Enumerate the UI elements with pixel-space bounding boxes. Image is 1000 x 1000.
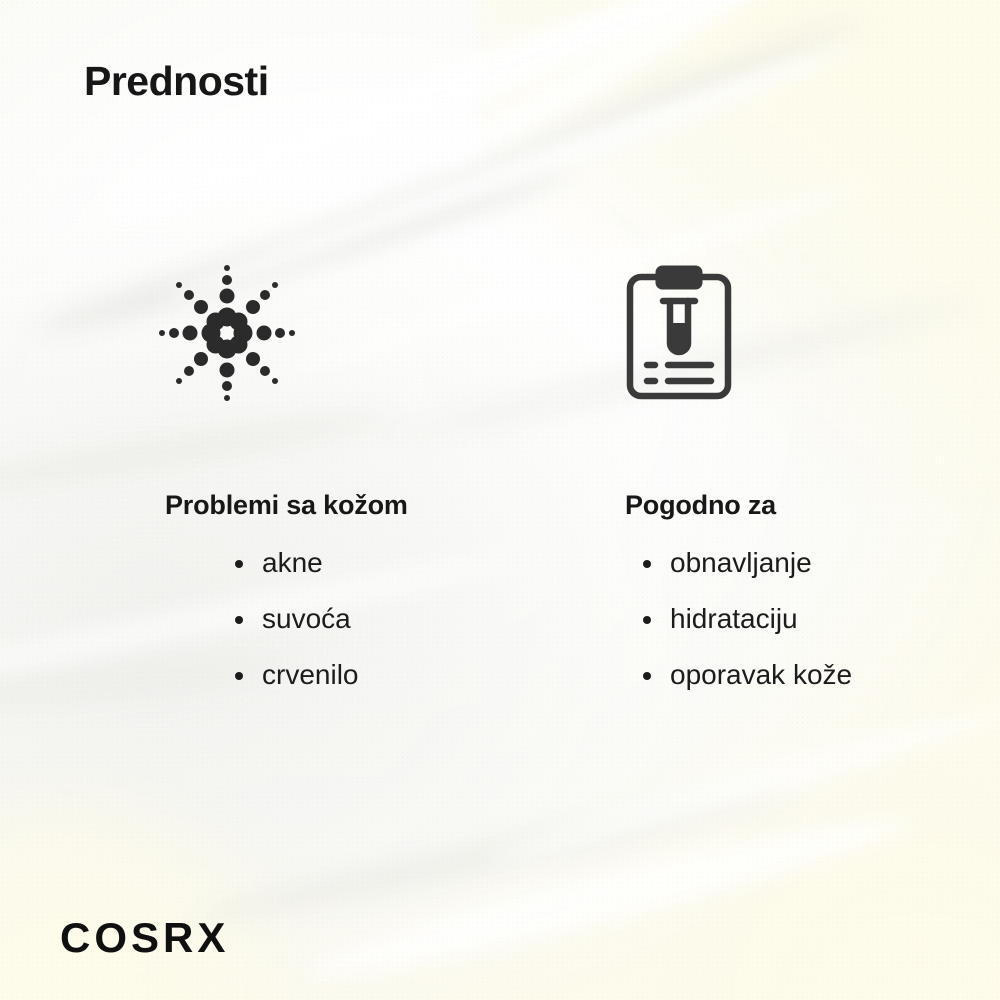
- suitable-for-list: obnavljanje hidrataciju oporavak kože: [610, 549, 1000, 689]
- list-item: oporavak kože: [640, 661, 1000, 689]
- shade-fold-2: [317, 12, 863, 250]
- column-heading-skin-problems: Problemi sa kožom: [84, 490, 500, 521]
- page-title: Prednosti: [84, 58, 269, 105]
- gloss-highlight-6: [304, 800, 917, 995]
- shade-fold-5: [184, 778, 796, 934]
- column-suitable-for: Pogodno za obnavljanje hidrataciju opora…: [500, 258, 1000, 717]
- clipboard-test-tube-icon: [610, 258, 1000, 408]
- column-heading-suitable-for: Pogodno za: [610, 490, 1000, 521]
- list-item: hidrataciju: [640, 605, 1000, 633]
- list-item: obnavljanje: [640, 549, 1000, 577]
- brand-logo-cosrx: COSRX: [60, 914, 229, 962]
- gloss-highlight-1: [98, 0, 841, 240]
- list-item: akne: [232, 549, 500, 577]
- gloss-highlight-4: [423, 0, 836, 183]
- list-item: suvoća: [232, 605, 500, 633]
- list-item: crvenilo: [232, 661, 500, 689]
- product-benefits-card: Prednosti: [0, 0, 1000, 1000]
- gloss-highlight-7: [486, 696, 1000, 874]
- benefits-columns: Problemi sa kožom akne suvoća crvenilo: [0, 258, 1000, 717]
- ivory-pocket-bottom-right: [640, 780, 1000, 1000]
- starburst-dots-icon: [84, 258, 500, 408]
- column-skin-problems: Problemi sa kožom akne suvoća crvenilo: [0, 258, 500, 717]
- skin-problems-list: akne suvoća crvenilo: [84, 549, 500, 689]
